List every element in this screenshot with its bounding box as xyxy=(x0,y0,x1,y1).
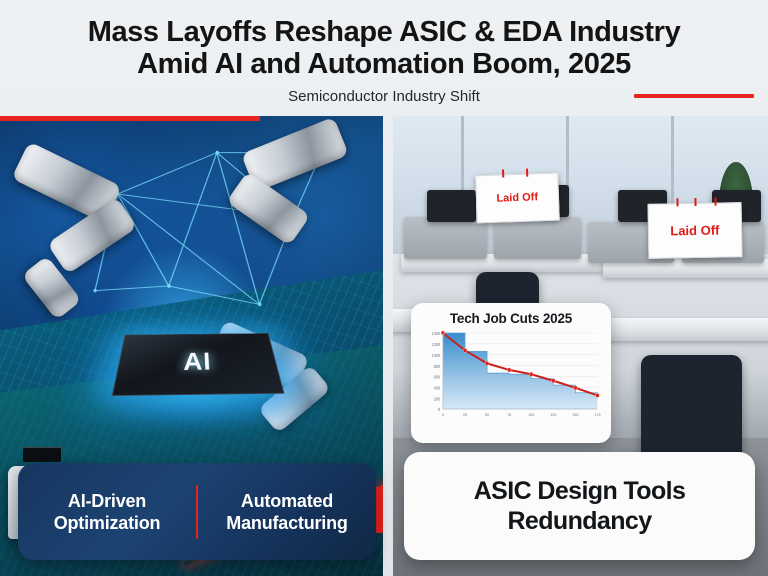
laid-off-sign-label: Laid Off xyxy=(496,191,538,204)
chart-title: Tech Job Cuts 2025 xyxy=(419,311,603,326)
callout-line1: ASIC Design Tools xyxy=(474,477,686,505)
laid-off-sign-label: Laid Off xyxy=(670,223,719,239)
callout-line2: Manufacturing xyxy=(226,513,347,533)
left-panel-top-red-bar xyxy=(0,116,260,121)
svg-text:125: 125 xyxy=(550,413,556,417)
office-desk xyxy=(596,318,768,341)
right-callout-banner: ASIC Design Tools Redundancy xyxy=(404,452,755,560)
callout-ai-driven-optimization: AI-Driven Optimization xyxy=(18,490,196,534)
chart-card: Tech Job Cuts 2025 020040060080010001200… xyxy=(411,303,611,443)
ai-chip-label: AI xyxy=(183,348,212,377)
desk-partition xyxy=(404,217,487,258)
svg-text:100: 100 xyxy=(528,413,534,417)
svg-text:800: 800 xyxy=(434,364,441,369)
svg-text:0: 0 xyxy=(438,407,441,412)
svg-text:175: 175 xyxy=(594,413,600,417)
sign-pin-icon xyxy=(694,198,696,206)
sign-pin-icon xyxy=(676,199,678,207)
callout-line2: Optimization xyxy=(54,513,161,533)
callout-line1: AI-Driven xyxy=(68,491,146,511)
office-monitor xyxy=(427,190,476,222)
svg-text:150: 150 xyxy=(572,413,578,417)
callout-line1: Automated xyxy=(241,491,333,511)
laid-off-sign: Laid Off xyxy=(648,203,743,260)
header-accent-rule xyxy=(634,94,754,98)
svg-text:600: 600 xyxy=(434,374,441,379)
callout-asic-design-tools-redundancy: ASIC Design Tools Redundancy xyxy=(474,476,686,536)
ai-chip: AI xyxy=(111,334,284,397)
svg-text:1200: 1200 xyxy=(432,342,441,347)
left-callout-banner: AI-Driven Optimization Automated Manufac… xyxy=(18,463,376,560)
page-title: Mass Layoffs Reshape ASIC & EDA Industry… xyxy=(0,16,768,80)
svg-text:200: 200 xyxy=(434,396,441,401)
chart-plot-area: 0200400600800100012001400025507510012515… xyxy=(419,327,603,423)
page-title-line2: Amid AI and Automation Boom, 2025 xyxy=(0,48,768,80)
sign-pin-icon xyxy=(714,198,716,206)
svg-text:400: 400 xyxy=(434,385,441,390)
page-title-line1: Mass Layoffs Reshape ASIC & EDA Industry xyxy=(88,16,681,48)
svg-text:0: 0 xyxy=(442,413,444,417)
svg-text:1400: 1400 xyxy=(432,331,441,336)
svg-text:1000: 1000 xyxy=(432,353,441,358)
callout-automated-manufacturing: Automated Manufacturing xyxy=(198,490,376,534)
sign-pin-icon xyxy=(501,169,503,177)
callout-line2: Redundancy xyxy=(507,507,651,535)
svg-text:75: 75 xyxy=(507,413,511,417)
infographic-stage: Mass Layoffs Reshape ASIC & EDA Industry… xyxy=(0,0,768,576)
laid-off-sign: Laid Off xyxy=(475,172,559,223)
header: Mass Layoffs Reshape ASIC & EDA Industry… xyxy=(0,0,768,116)
smd-component xyxy=(23,447,61,462)
svg-text:50: 50 xyxy=(485,413,489,417)
desk-partition xyxy=(494,217,580,258)
svg-text:25: 25 xyxy=(463,413,467,417)
sign-pin-icon xyxy=(525,168,527,176)
